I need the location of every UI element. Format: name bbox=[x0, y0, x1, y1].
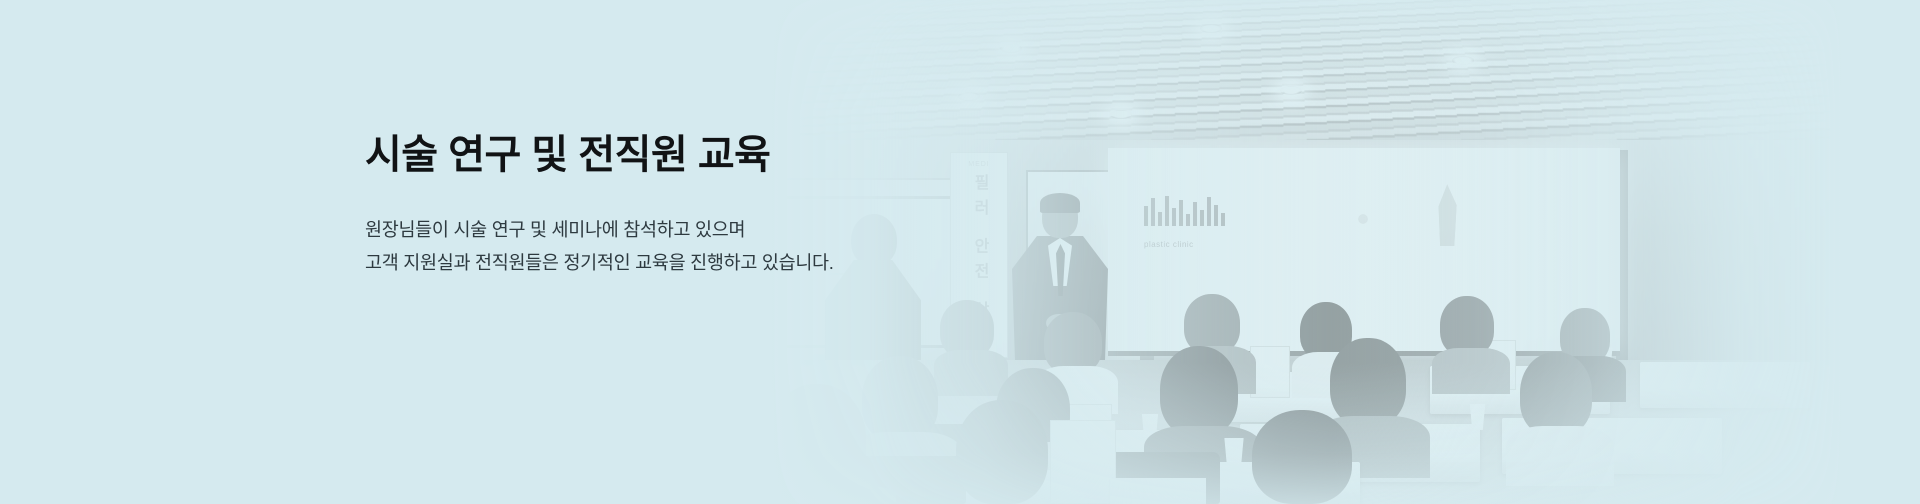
handout bbox=[1110, 478, 1206, 504]
downlight-icon bbox=[1110, 110, 1132, 119]
hero-subtitle-line-1: 원장님들이 시술 연구 및 세미나에 참석하고 있으며 bbox=[365, 214, 1065, 247]
table bbox=[1640, 362, 1810, 408]
attendee bbox=[1520, 352, 1602, 486]
downlight-icon bbox=[958, 92, 980, 101]
page-title: 시술 연구 및 전직원 교육 bbox=[365, 132, 1065, 178]
attendee bbox=[1252, 410, 1364, 504]
slide-figure-icon bbox=[1428, 184, 1468, 246]
slide-logo-icon bbox=[1144, 196, 1225, 226]
attendee bbox=[956, 400, 1060, 504]
paper-bag bbox=[1050, 420, 1116, 504]
hero-copy: 시술 연구 및 전직원 교육 원장님들이 시술 연구 및 세미나에 참석하고 있… bbox=[365, 132, 1065, 280]
hero-banner: MEDI 필러 안전 상담 clinic plastic clinic bbox=[0, 0, 1920, 504]
hero-subtitle: 원장님들이 시술 연구 및 세미나에 참석하고 있으며 고객 지원실과 전직원들… bbox=[365, 214, 1065, 280]
attendee bbox=[768, 384, 878, 504]
downlight-icon bbox=[1200, 24, 1222, 33]
downlight-icon bbox=[1452, 56, 1474, 65]
hero-subtitle-line-2: 고객 지원실과 전직원들은 정기적인 교육을 진행하고 있습니다. bbox=[365, 247, 1065, 280]
slide-caption: plastic clinic bbox=[1144, 240, 1194, 249]
downlight-icon bbox=[1280, 86, 1302, 95]
slide-dot-icon bbox=[1358, 214, 1368, 224]
attendee bbox=[940, 300, 1002, 396]
attendee bbox=[1440, 296, 1502, 394]
paper-bag bbox=[1250, 346, 1290, 398]
downlight-icon bbox=[1000, 44, 1022, 53]
